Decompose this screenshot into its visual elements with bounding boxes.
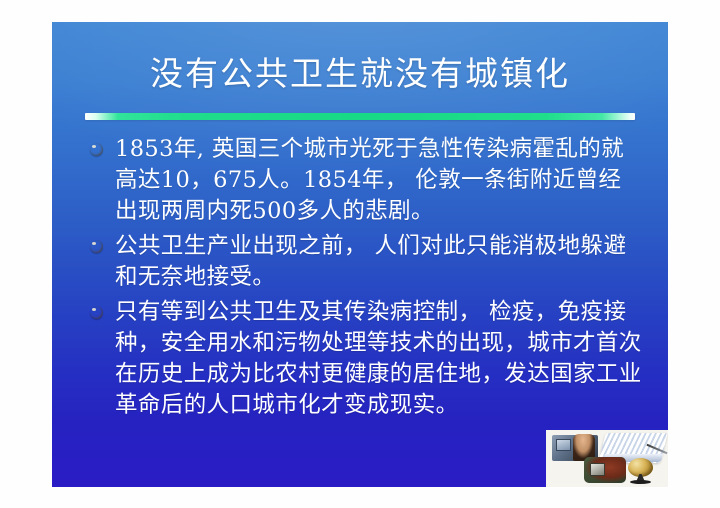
list-item-text: 公共卫生产业出现之前， 人们对此只能消极地躲避和无奈地接受。 [115,233,626,290]
bullet-list: 1853年, 英国三个城市光死于急性传染病霍乱的就高达10，675人。1854年… [88,134,644,421]
globe-base-icon [630,480,651,484]
page-title: 没有公共卫生就没有城镇化 [52,56,668,92]
title-block: 没有公共卫生就没有城镇化 [52,56,668,92]
list-item-text: 1853年, 英国三个城市光死于急性传染病霍乱的就高达10，675人。1854年… [115,136,624,224]
list-item-text: 只有等到公共卫生及其传染病控制， 检疫，免疫接种，安全用水和污物处理等技术的出现… [115,299,642,418]
handheld-device-icon [590,463,605,476]
list-item: 只有等到公共卫生及其传染病控制， 检疫，免疫接种，安全用水和污物处理等技术的出现… [88,297,644,421]
gold-sphere-bullet-icon [90,306,103,319]
monitor-screen-icon [556,439,571,451]
list-item: 公共卫生产业出现之前， 人们对此只能消极地躲避和无奈地接受。 [88,231,644,293]
gold-sphere-bullet-icon [90,240,103,253]
list-item: 1853年, 英国三个城市光死于急性传染病霍乱的就高达10，675人。1854年… [88,134,644,227]
slide-canvas: 没有公共卫生就没有城镇化 1853年, 英国三个城市光死于急性传染病霍乱的就高达… [0,0,720,508]
gold-sphere-bullet-icon [90,143,103,156]
corner-photo-collage [546,430,668,487]
presentation-slide: 没有公共卫生就没有城镇化 1853年, 英国三个城市光死于急性传染病霍乱的就高达… [52,22,668,487]
title-divider [85,113,635,120]
